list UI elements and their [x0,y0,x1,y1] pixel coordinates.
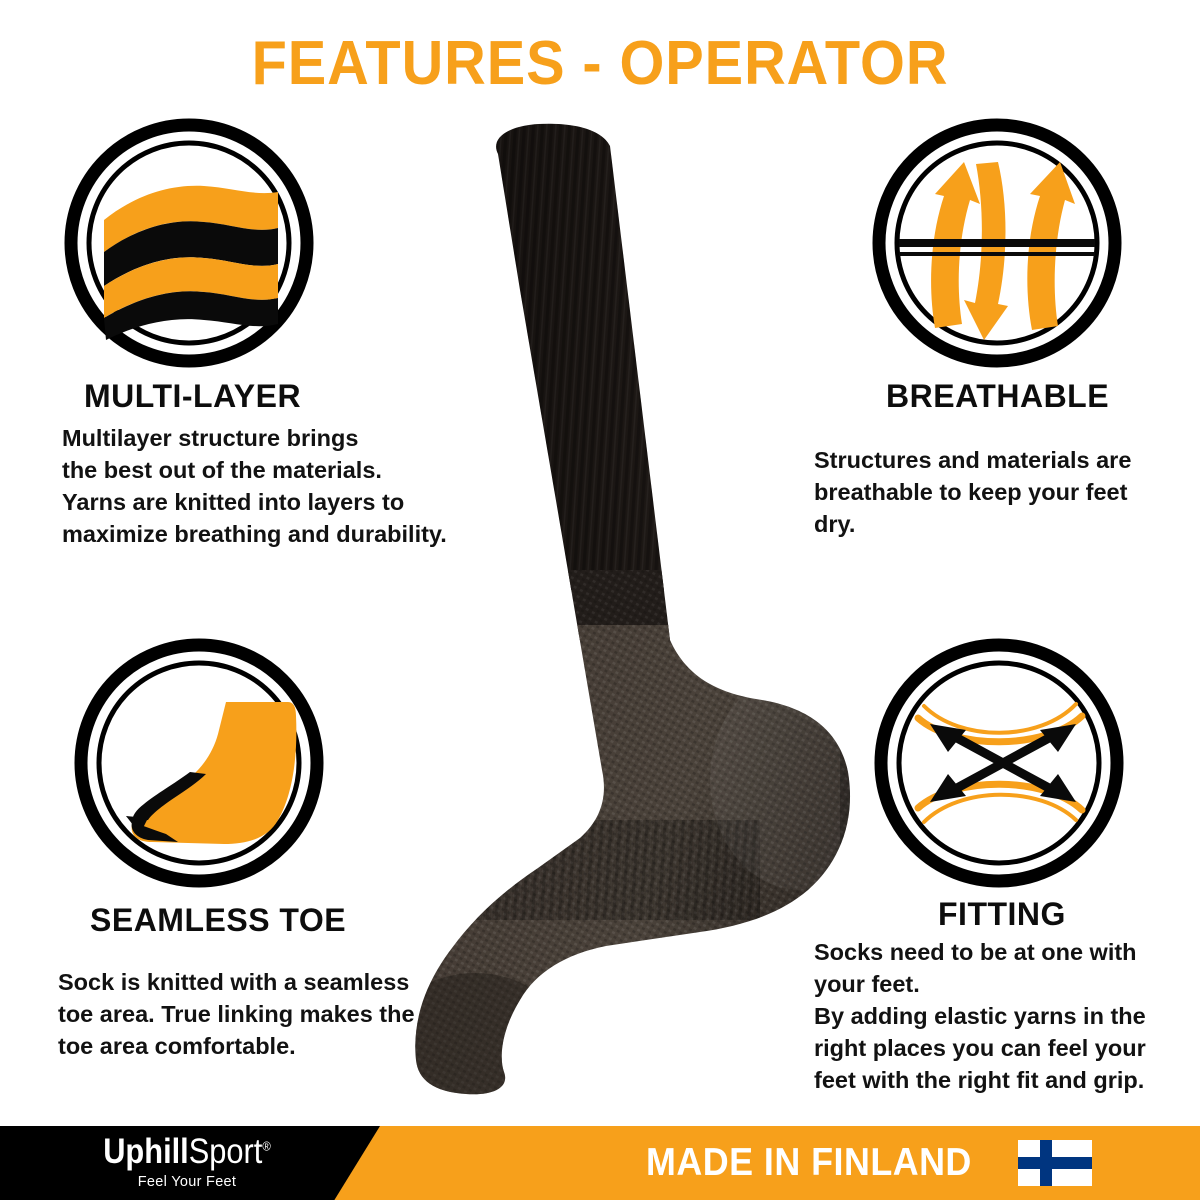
body-line: the best out of the materials. [62,454,502,486]
feature-heading: FITTING [938,898,1200,932]
logo-wordmark: UphillSport® [77,1134,297,1169]
registered-trademark-icon: ® [262,1138,270,1153]
feature-fitting: FITTING Socks need to be at one with you… [874,638,1200,1097]
body-line: Yarns are knitted into layers to [62,486,502,518]
logo-tagline: Feel Your Feet [62,1174,312,1190]
uphillsport-logo[interactable]: UphillSport® Feel Your Feet [62,1134,312,1190]
body-line: toe area comfortable. [58,1030,508,1062]
infographic-poster: FEATURES - OPERATOR [0,0,1200,1200]
feature-heading: BREATHABLE [886,380,1200,414]
footer-bar: UphillSport® Feel Your Feet MADE IN FINL… [0,1126,1200,1200]
made-in-finland-block: MADE IN FINLAND [646,1140,1092,1186]
feature-breathable: BREATHABLE Structures and materials are … [872,118,1200,540]
body-line: right places you can feel your [814,1032,1200,1064]
body-line: Sock is knitted with a seamless [58,966,508,998]
feature-heading: MULTI-LAYER [84,380,502,414]
feature-body: Structures and materials are breathable … [814,444,1200,541]
feature-heading: SEAMLESS TOE [90,904,508,938]
fitting-stretch-arrows-icon [874,638,1124,888]
feature-body: Socks need to be at one with your feet. … [814,936,1200,1097]
body-line: Socks need to be at one with [814,936,1200,968]
body-line: your feet. [814,968,1200,1000]
feature-body: Multilayer structure brings the best out… [62,422,502,551]
body-line: Multilayer structure brings [62,422,502,454]
body-line: maximize breathing and durability. [62,518,502,550]
feature-multi-layer: MULTI-LAYER Multilayer structure brings … [62,118,502,550]
body-line: Structures and materials are [814,444,1200,476]
sock-foot-icon [74,638,324,888]
logo-sport-text: Sport [189,1132,263,1171]
made-in-finland-text: MADE IN FINLAND [646,1141,972,1185]
layers-icon [64,118,314,368]
feature-body: Sock is knitted with a seamless toe area… [58,966,508,1063]
finland-flag [1018,1140,1092,1186]
body-line: toe area. True linking makes the [58,998,508,1030]
feature-seamless-toe: SEAMLESS TOE Sock is knitted with a seam… [68,638,508,1062]
body-line: dry. [814,508,1200,540]
logo-uphill-text: Uphill [103,1132,189,1171]
breathable-airflow-icon [872,118,1122,368]
body-line: breathable to keep your feet [814,476,1200,508]
body-line: By adding elastic yarns in the [814,1000,1200,1032]
body-line: feet with the right fit and grip. [814,1064,1200,1096]
page-title: FEATURES - OPERATOR [42,28,1158,99]
